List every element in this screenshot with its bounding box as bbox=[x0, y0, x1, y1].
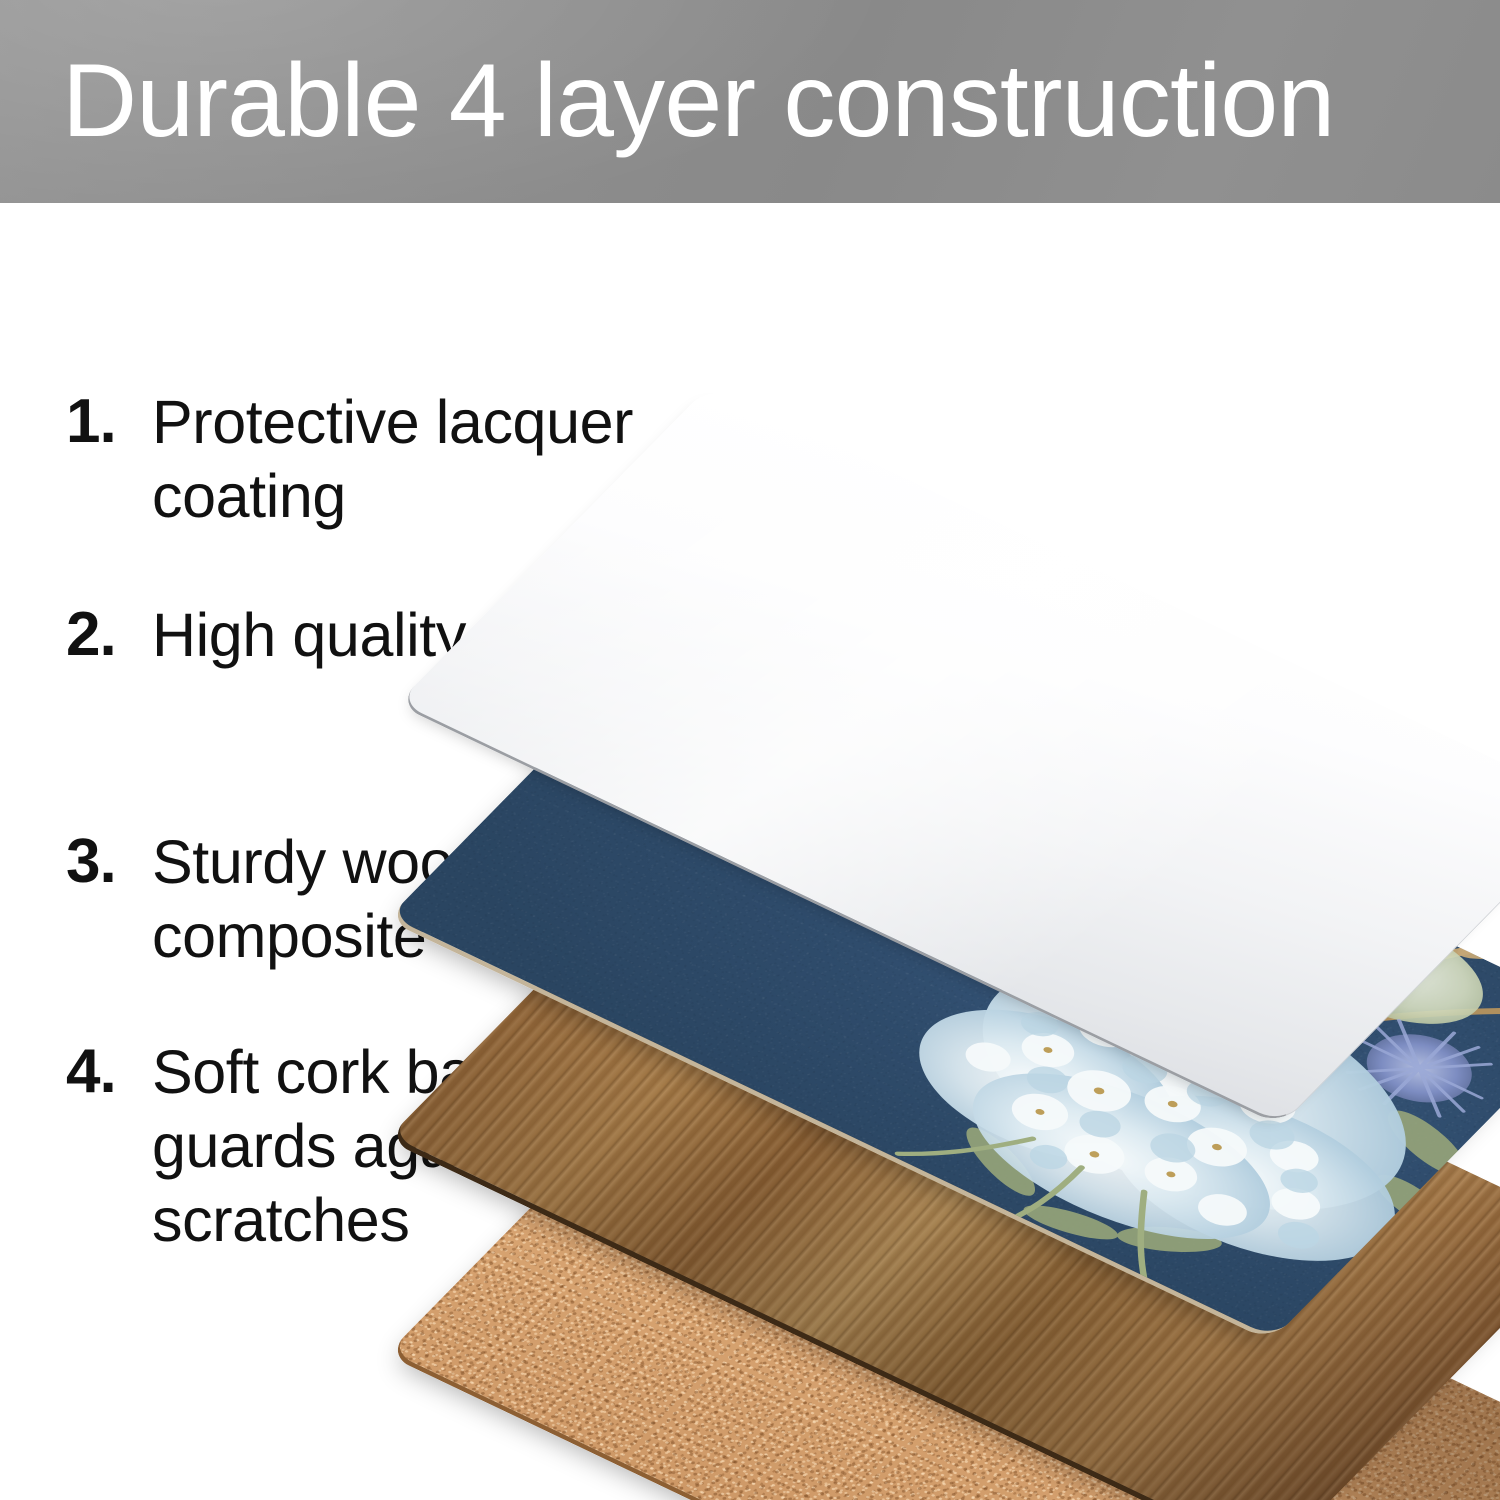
page-title: Durable 4 layer construction bbox=[62, 28, 1462, 174]
list-item-number: 4. bbox=[66, 1035, 152, 1109]
header-banner: Durable 4 layer construction bbox=[0, 0, 1500, 203]
infographic-page: Durable 4 layer construction 1. Protecti… bbox=[0, 0, 1500, 1500]
exploded-layer-diagram bbox=[640, 210, 1500, 1500]
list-item-number: 3. bbox=[66, 825, 152, 899]
list-item-number: 1. bbox=[66, 385, 152, 459]
list-item-number: 2. bbox=[66, 598, 152, 672]
